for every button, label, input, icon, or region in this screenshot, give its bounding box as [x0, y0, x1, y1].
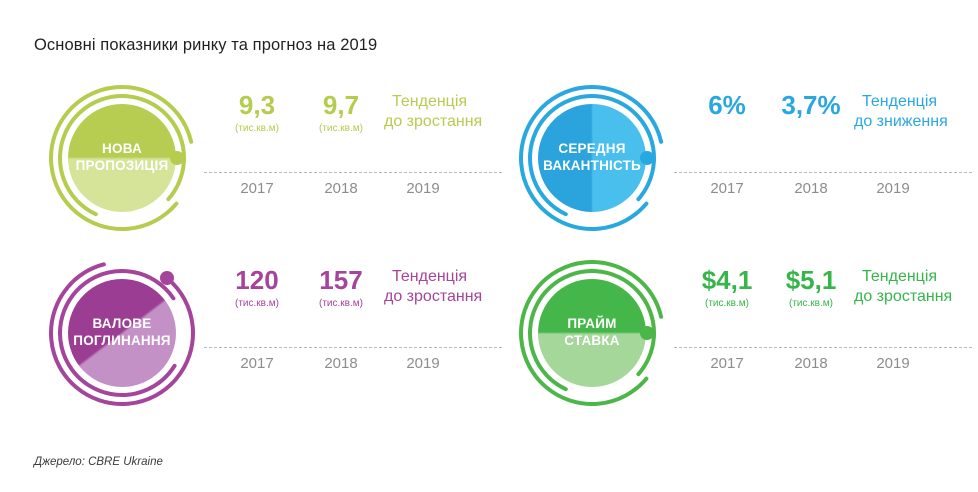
trend-line2: до зростання: [854, 287, 972, 307]
value-col-2017: 120 (тис.кв.м): [218, 267, 296, 309]
value-2018: 157: [302, 267, 380, 293]
year-2017: 2017: [688, 355, 766, 372]
divider: [204, 172, 502, 173]
years-row: 2017 2018 2019: [672, 180, 972, 208]
stats-gross-take-up: 120 (тис.кв.м) 157 (тис.кв.м) Тенденція …: [202, 255, 502, 385]
values-row: 9,3 (тис.кв.м) 9,7 (тис.кв.м) Тенденція …: [202, 92, 502, 166]
values-row: 6% 3,7% Тенденція до зниження: [672, 92, 972, 166]
dial-prime-rate: [518, 259, 666, 407]
trend-line1: Тенденція: [384, 92, 502, 112]
years-row: 2017 2018 2019: [202, 180, 502, 208]
unit-2018: (тис.кв.м): [302, 299, 380, 309]
value-col-2018: $5,1 (тис.кв.м): [772, 267, 850, 309]
value-col-2017: 9,3 (тис.кв.м): [218, 92, 296, 134]
trend-line2: до зниження: [854, 112, 972, 132]
unit-2017: (тис.кв.м): [218, 124, 296, 134]
years-row: 2017 2018 2019: [202, 355, 502, 383]
dial-new-supply: [48, 84, 196, 232]
trend-col-2019: Тенденція до зниження: [854, 92, 972, 131]
years-row: 2017 2018 2019: [672, 355, 972, 383]
panel-average-vacancy: СЕРЕДНЯ ВАКАНТНІСТЬ 6% 3,7% Тенденція до…: [504, 80, 974, 270]
value-col-2018: 157 (тис.кв.м): [302, 267, 380, 309]
trend-line1: Тенденція: [854, 267, 972, 287]
value-col-2018: 9,7 (тис.кв.м): [302, 92, 380, 134]
stats-average-vacancy: 6% 3,7% Тенденція до зниження 2017 2018 …: [672, 80, 972, 210]
trend-line1: Тенденція: [384, 267, 502, 287]
panel-prime-rate: ПРАЙМ СТАВКА $4,1 (тис.кв.м) $5,1 (тис.к…: [504, 255, 974, 445]
source-note: Джерело: CBRE Ukraine: [34, 456, 163, 468]
unit-2017: (тис.кв.м): [218, 299, 296, 309]
value-2017: 6%: [688, 92, 766, 118]
trend-col-2019: Тенденція до зростання: [854, 267, 972, 306]
value-2017: 120: [218, 267, 296, 293]
year-2019: 2019: [854, 355, 932, 372]
stats-new-supply: 9,3 (тис.кв.м) 9,7 (тис.кв.м) Тенденція …: [202, 80, 502, 210]
year-2018: 2018: [302, 355, 380, 372]
divider: [674, 347, 972, 348]
trend-line2: до зростання: [384, 287, 502, 307]
value-2018: $5,1: [772, 267, 850, 293]
trend-col-2019: Тенденція до зростання: [384, 92, 502, 131]
unit-2018: (тис.кв.м): [302, 124, 380, 134]
year-2018: 2018: [772, 180, 850, 197]
trend-col-2019: Тенденція до зростання: [384, 267, 502, 306]
divider: [204, 347, 502, 348]
year-2017: 2017: [218, 180, 296, 197]
dial-average-vacancy: [518, 84, 666, 232]
panel-gross-take-up: ВАЛОВЕ ПОГЛИНАННЯ 120 (тис.кв.м) 157 (ти…: [34, 255, 504, 445]
year-2017: 2017: [688, 180, 766, 197]
value-2017: $4,1: [688, 267, 766, 293]
value-2017: 9,3: [218, 92, 296, 118]
values-row: 120 (тис.кв.м) 157 (тис.кв.м) Тенденція …: [202, 267, 502, 341]
stats-prime-rate: $4,1 (тис.кв.м) $5,1 (тис.кв.м) Тенденці…: [672, 255, 972, 385]
year-2018: 2018: [302, 180, 380, 197]
value-col-2017: $4,1 (тис.кв.м): [688, 267, 766, 309]
values-row: $4,1 (тис.кв.м) $5,1 (тис.кв.м) Тенденці…: [672, 267, 972, 341]
value-2018: 3,7%: [772, 92, 850, 118]
value-2018: 9,7: [302, 92, 380, 118]
year-2018: 2018: [772, 355, 850, 372]
page-title: Основні показники ринку та прогноз на 20…: [34, 36, 377, 55]
divider: [674, 172, 972, 173]
value-col-2017: 6%: [688, 92, 766, 124]
trend-line2: до зростання: [384, 112, 502, 132]
dial-gross-take-up: [48, 259, 196, 407]
unit-2017: (тис.кв.м): [688, 299, 766, 309]
year-2019: 2019: [854, 180, 932, 197]
trend-line1: Тенденція: [854, 92, 972, 112]
value-col-2018: 3,7%: [772, 92, 850, 124]
unit-2018: (тис.кв.м): [772, 299, 850, 309]
year-2019: 2019: [384, 180, 462, 197]
year-2019: 2019: [384, 355, 462, 372]
year-2017: 2017: [218, 355, 296, 372]
panel-new-supply: НОВА ПРОПОЗИЦІЯ 9,3 (тис.кв.м) 9,7 (тис.…: [34, 80, 504, 270]
